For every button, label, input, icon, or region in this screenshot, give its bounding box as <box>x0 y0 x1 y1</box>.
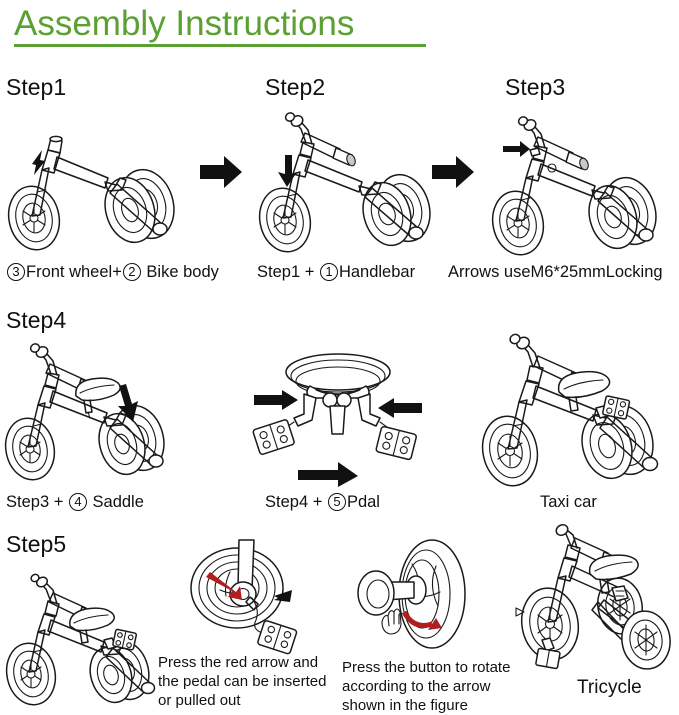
pedal-caption-prefix: Step4 + <box>265 493 327 511</box>
circled-number-five: 5 <box>328 493 346 511</box>
step1-label: Step1 <box>6 74 66 101</box>
step1-caption-text-b: Bike body <box>142 263 219 281</box>
taxi-car-caption: Taxi car <box>540 492 597 513</box>
pedal-caption: Step4 + 5Pdal <box>265 492 380 513</box>
pedal-assembly-figure <box>246 348 426 488</box>
pedal-insert-detail-figure <box>182 540 332 655</box>
tricycle-final-figure <box>512 528 677 673</box>
step4-label: Step4 <box>6 307 66 334</box>
step2-label: Step2 <box>265 74 325 101</box>
step2-caption-prefix: Step1 + <box>257 263 319 281</box>
step4-caption-prefix: Step3 + <box>6 493 68 511</box>
step5-label: Step5 <box>6 531 66 558</box>
step2-caption-suffix: Handlebar <box>339 263 415 281</box>
step2-caption: Step1 + 1Handlebar <box>257 262 415 283</box>
step1-bike-figure <box>4 112 194 257</box>
page-title: Assembly Instructions <box>14 2 426 46</box>
step1-caption-text-a: Front wheel+ <box>26 263 122 281</box>
circled-number-two: 2 <box>123 263 141 281</box>
arrow-right-icon-1 <box>198 152 244 192</box>
step3-label: Step3 <box>505 74 565 101</box>
step4-bike-figure <box>6 336 206 486</box>
rotate-note: Press the button to rotate according to … <box>342 658 527 715</box>
step4-caption-suffix: Saddle <box>88 493 144 511</box>
step1-caption: 3Front wheel+2 Bike body <box>6 262 219 283</box>
circled-number-three: 3 <box>7 263 25 281</box>
step5-bike-figure <box>4 570 169 710</box>
circled-number-one: 1 <box>320 263 338 281</box>
page-title-block: Assembly Instructions <box>14 2 426 47</box>
button-rotate-detail-figure <box>352 538 517 656</box>
circled-number-four: 4 <box>69 493 87 511</box>
red-arrow-note: Press the red arrow and the pedal can be… <box>158 653 328 710</box>
step2-bike-figure <box>252 108 448 258</box>
taxi-car-bike-figure <box>466 330 671 485</box>
assembly-instructions-page: Assembly Instructions Step1 Step2 Step3 <box>0 0 679 714</box>
tricycle-caption: Tricycle <box>577 677 642 698</box>
step3-bike-figure <box>470 108 670 258</box>
step4-caption: Step3 + 4 Saddle <box>6 492 144 513</box>
pedal-caption-suffix: Pdal <box>347 493 380 511</box>
step3-caption: Arrows useM6*25mmLocking <box>448 262 663 283</box>
